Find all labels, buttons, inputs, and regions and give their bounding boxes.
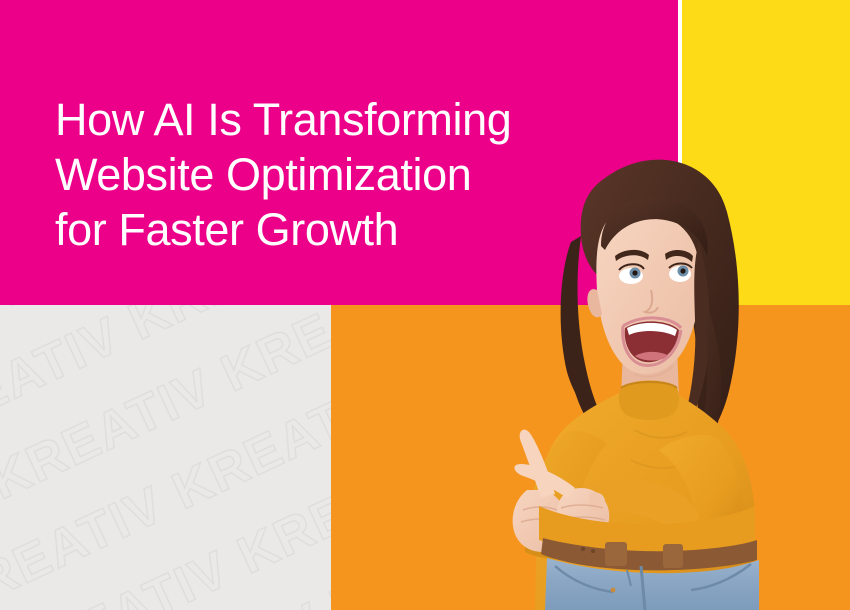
belt-loop: [663, 544, 683, 568]
headline-line-1: How AI Is Transforming: [55, 92, 655, 147]
belt-loop: [605, 542, 627, 566]
watermark-panel: KREATIV KREATIV KREATIV KREATIV KREATIV …: [0, 305, 331, 610]
woman-pointing-photo: [455, 150, 805, 610]
watermark-pattern: KREATIV KREATIV KREATIV KREATIV KREATIV …: [0, 305, 331, 610]
blog-banner: KREATIV KREATIV KREATIV KREATIV KREATIV …: [0, 0, 850, 610]
